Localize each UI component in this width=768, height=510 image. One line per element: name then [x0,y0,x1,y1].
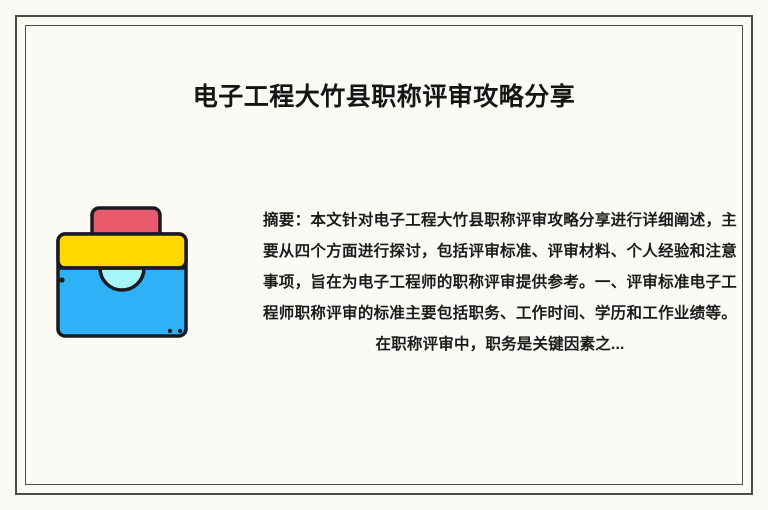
poster-page: 电子工程大竹县职称评审攻略分享 摘要：本文针对电子工程大竹县职称评审攻略分享进行… [0,0,768,510]
article-abstract: 摘要：本文针对电子工程大竹县职称评审攻略分享进行详细阐述，主要从四个方面进行探讨… [263,205,737,360]
toolbox-lid-icon [58,234,186,268]
page-title: 电子工程大竹县职称评审攻略分享 [0,82,768,112]
toolbox-hinge-dot-icon [59,277,64,282]
toolbox-illustration [50,200,195,345]
toolbox-icon [50,200,195,345]
toolbox-foot-dot-left-icon [168,329,172,333]
toolbox-foot-dot-right-icon [178,329,182,333]
